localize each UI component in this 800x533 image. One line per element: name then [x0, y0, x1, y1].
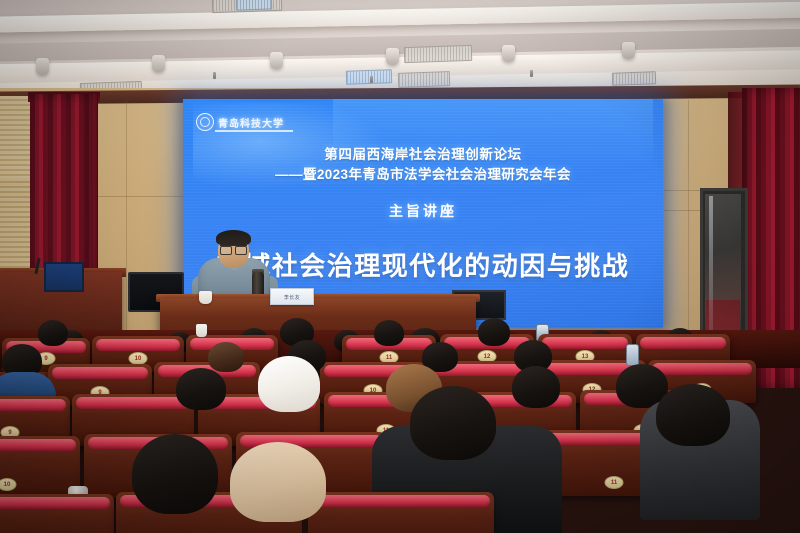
seat-cushion	[0, 439, 76, 451]
ceiling-vent	[236, 0, 272, 11]
screen-glow	[193, 103, 383, 189]
audience-head	[176, 368, 226, 410]
ceiling-light-cove-upper	[0, 1, 800, 33]
auditorium-seat[interactable]	[308, 492, 494, 533]
ceiling-spotlight	[502, 45, 515, 62]
audience-head	[208, 342, 244, 372]
screen-glow	[333, 99, 653, 169]
smartphone	[626, 344, 639, 366]
university-emblem-icon	[196, 113, 214, 131]
audience-head	[374, 320, 404, 346]
seat-cushion	[0, 497, 110, 509]
name-card-text: 李长友	[272, 294, 312, 301]
audience-head	[38, 320, 68, 346]
ceiling-spotlight	[152, 55, 165, 72]
seat-cushion	[76, 397, 190, 409]
ceiling	[0, 0, 800, 96]
audience-head	[478, 318, 510, 346]
seat-cushion	[0, 399, 66, 411]
seat-number-plate: 11	[605, 476, 624, 489]
wall-panel-seam	[96, 196, 188, 197]
audience-head	[512, 366, 560, 408]
speaker-hair	[216, 230, 251, 246]
logo-underline	[215, 130, 293, 132]
ceiling-vent	[404, 45, 473, 63]
wall-panel-seam	[126, 100, 127, 330]
seat-cushion	[542, 337, 628, 349]
door-glass-reflection	[709, 196, 713, 346]
keynote-label: 主旨讲座	[183, 201, 663, 221]
ceiling-spotlight	[36, 58, 49, 75]
audience-beanie	[230, 442, 326, 522]
university-logo: 青岛科技大学	[196, 113, 284, 131]
ceiling-spotlight	[622, 42, 635, 59]
seat-cushion	[96, 339, 180, 351]
audience-head	[132, 434, 218, 514]
ceiling-spotlight	[270, 52, 283, 69]
forum-title-line2: ——暨2023年青岛市法学会社会治理研究会年会	[183, 163, 663, 183]
ceiling-vent	[398, 71, 450, 88]
auditorium-seat[interactable]	[0, 494, 114, 533]
audience-head	[656, 384, 730, 446]
university-logo-text: 青岛科技大学	[218, 115, 284, 130]
lecture-hall-photo: 青岛科技大学 第四届西海岸社会治理创新论坛 ——暨2023年青岛市法学会社会治理…	[0, 0, 800, 533]
seat-cushion	[652, 363, 752, 375]
sprinkler-head	[213, 72, 216, 79]
seat-number-plate: 10	[0, 478, 17, 491]
forum-title-line1: 第四届西海岸社会治理创新论坛	[183, 143, 663, 163]
seat-cushion	[52, 367, 148, 379]
seat-cushion	[640, 337, 726, 349]
water-cup	[199, 291, 212, 304]
audience-head	[410, 386, 496, 460]
wall-panel-seam	[688, 100, 689, 350]
confidence-monitor	[44, 262, 84, 292]
seat-cushion	[312, 495, 490, 507]
audience-beanie	[258, 356, 320, 412]
ceiling-vent	[346, 69, 392, 85]
paper-cup	[196, 324, 207, 337]
ceiling-spotlight	[386, 48, 399, 65]
sprinkler-head	[370, 76, 373, 83]
ceiling-vent	[612, 71, 656, 86]
sprinkler-head	[530, 70, 533, 77]
speaker-eyeglasses	[220, 245, 247, 253]
